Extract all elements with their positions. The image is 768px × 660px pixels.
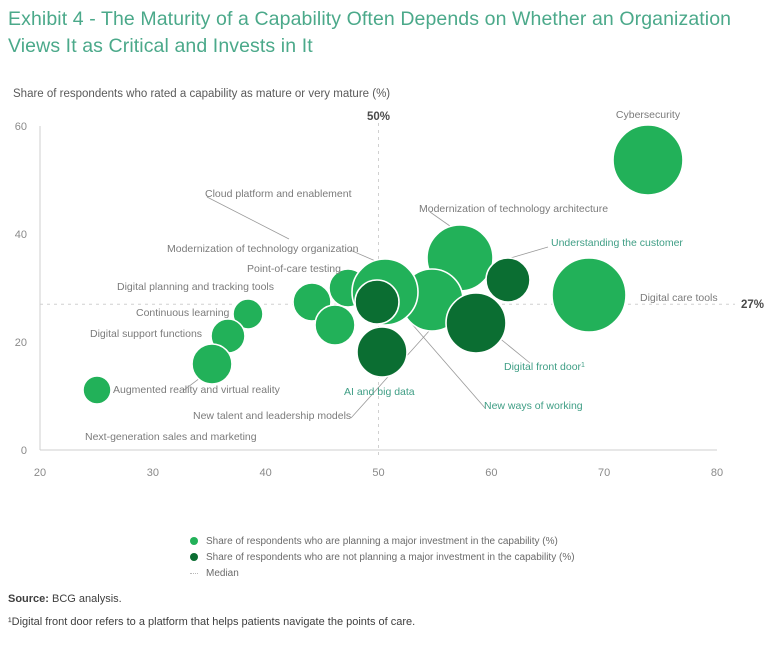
x-tick-label: 40	[260, 467, 272, 479]
point-label: Modernization of technology organization	[167, 243, 359, 255]
x-tick-label: 80	[711, 467, 723, 479]
point-label: Continuous learning	[136, 307, 230, 319]
legend-label-not-planning: Share of respondents who are not plannin…	[206, 552, 575, 563]
bubble-new-talent-and-leadership-models[interactable]	[315, 305, 355, 345]
point-label: New ways of working	[484, 400, 583, 412]
point-label: Digital care tools	[640, 292, 718, 304]
legend-label-median: Median	[206, 568, 239, 579]
y-tick-label: 40	[15, 229, 27, 241]
source-note: Source: BCG analysis.	[8, 593, 122, 605]
point-label: Point-of-care testing	[247, 263, 341, 275]
bubble-chart: 02040602030405060708050%27%Share of resp…	[0, 105, 768, 485]
leader-line	[207, 197, 289, 239]
source-prefix: Source:	[8, 593, 49, 605]
y-tick-label: 0	[21, 445, 27, 457]
point-label: New talent and leadership models	[193, 410, 351, 422]
point-label: Cybersecurity	[616, 109, 681, 121]
source-text: BCG analysis.	[49, 593, 122, 605]
legend-item-planning: Share of respondents who are planning a …	[190, 533, 575, 549]
page-title: Exhibit 4 - The Maturity of a Capability…	[8, 6, 748, 60]
y-tick-label: 60	[15, 121, 27, 133]
legend-dot-light-green	[190, 537, 198, 545]
point-label: Digital support functions	[90, 328, 202, 340]
x-tick-label: 30	[147, 467, 159, 479]
bubble-ai-and-big-data[interactable]	[357, 327, 407, 377]
bubble-digital-care-tools[interactable]	[552, 258, 626, 332]
x-tick-label: 20	[34, 467, 46, 479]
bubble-digital-front-door[interactable]	[446, 293, 506, 353]
point-label: Augmented reality and virtual reality	[113, 384, 281, 396]
legend-label-planning: Share of respondents who are planning a …	[206, 536, 558, 547]
y-tick-label: 20	[15, 337, 27, 349]
bubble-augmented-reality-and-virtual-reality[interactable]	[83, 376, 111, 404]
point-label: Digital front door1	[504, 361, 585, 373]
y-axis-title: Share of respondents who rated a capabil…	[13, 88, 390, 100]
x-tick-label: 60	[485, 467, 497, 479]
legend-dotted-line-icon	[190, 573, 198, 574]
legend-item-median: Median	[190, 565, 575, 581]
point-label: Understanding the customer	[551, 237, 683, 249]
chart-legend: Share of respondents who are planning a …	[190, 533, 575, 581]
x-tick-label: 50	[372, 467, 384, 479]
chart-svg: 02040602030405060708050%27%Share of resp…	[0, 105, 768, 485]
legend-item-not-planning: Share of respondents who are not plannin…	[190, 549, 575, 565]
point-label: Next-generation sales and marketing	[85, 431, 257, 443]
point-label: Digital planning and tracking tools	[117, 281, 274, 293]
point-label: Cloud platform and enablement	[205, 188, 352, 200]
bubble-cybersecurity[interactable]	[613, 125, 683, 195]
bubble-understanding-the-customer[interactable]	[486, 258, 530, 302]
median-label-50: 50%	[367, 111, 390, 123]
x-tick-label: 70	[598, 467, 610, 479]
point-label: Modernization of technology architecture	[419, 203, 608, 215]
point-label: AI and big data	[344, 386, 415, 398]
legend-dot-dark-green	[190, 553, 198, 561]
bubble-new-ways-of-working[interactable]	[355, 280, 399, 324]
footnote-text: ¹Digital front door refers to a platform…	[8, 616, 415, 628]
bubble-next-generation-sales-and-marketing[interactable]	[192, 344, 232, 384]
median-label-27: 27%	[741, 299, 764, 311]
